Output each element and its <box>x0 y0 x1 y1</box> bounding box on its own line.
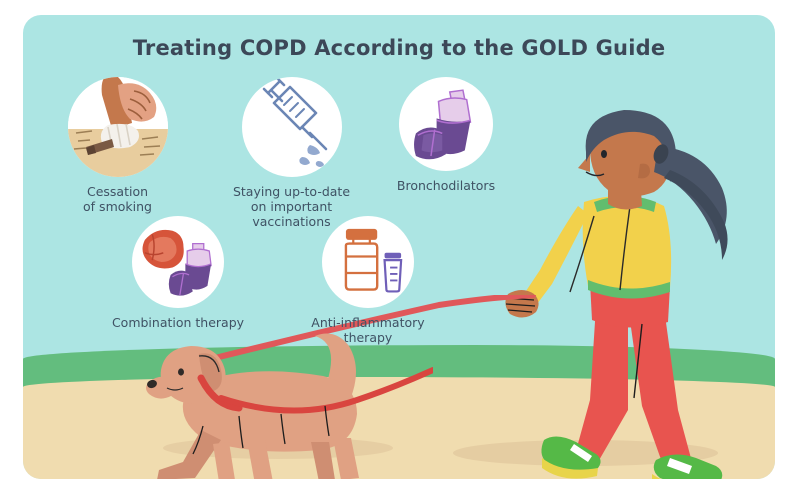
dog-illustration <box>143 330 433 479</box>
treatment-vaccination: Staying up-to-date on important vaccinat… <box>219 77 364 229</box>
treatment-bronchodilators: Bronchodilators <box>371 77 521 193</box>
foot-stubbing-cigarette-icon <box>68 77 168 177</box>
inhaler-icon <box>399 77 493 171</box>
page-title: Treating COPD According to the GOLD Guid… <box>23 36 775 60</box>
treatment-label-anti-inflammatory: Anti-inflammatory therapy <box>293 315 443 345</box>
infographic-canvas: Treating COPD According to the GOLD Guid… <box>0 0 799 479</box>
treatment-label-combination: Combination therapy <box>103 315 253 330</box>
treatment-smoking: Cessation of smoking <box>45 77 190 214</box>
medicine-bottle-and-cup-icon <box>322 216 414 308</box>
treatment-anti-inflammatory: Anti-inflammatory therapy <box>293 216 443 345</box>
infographic-frame: Treating COPD According to the GOLD Guid… <box>23 15 775 479</box>
syringe-icon <box>242 77 342 177</box>
treatment-combination: Combination therapy <box>103 216 253 330</box>
pill-and-inhaler-icon <box>132 216 224 308</box>
treatment-label-bronchodilators: Bronchodilators <box>371 178 521 193</box>
treatment-label-smoking: Cessation of smoking <box>45 184 190 214</box>
